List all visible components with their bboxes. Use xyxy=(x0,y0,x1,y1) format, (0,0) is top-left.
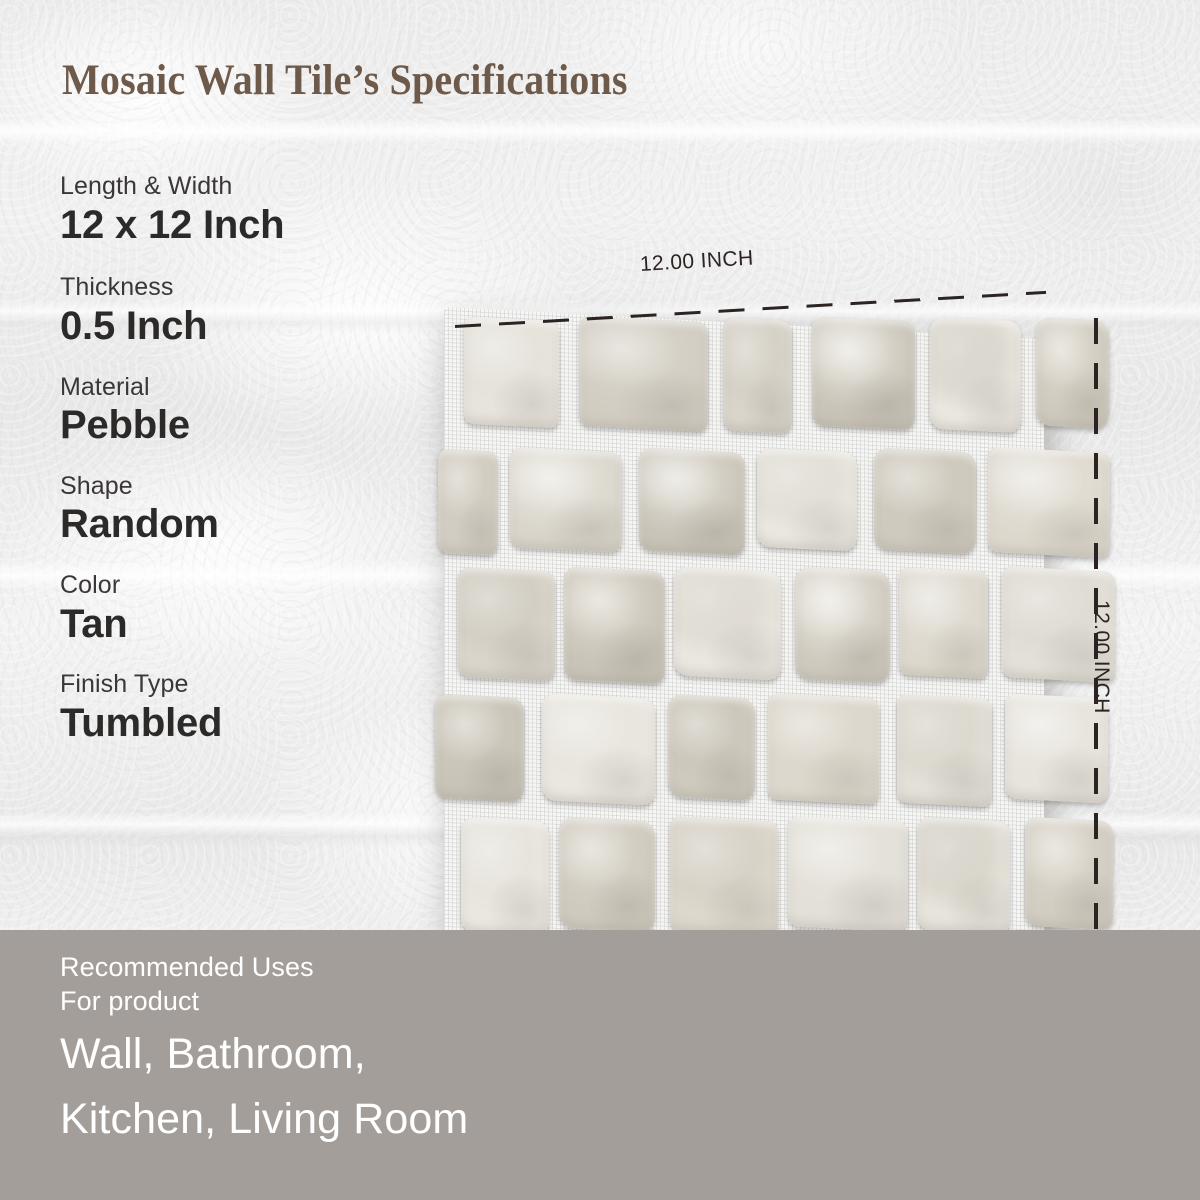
spec-value: Pebble xyxy=(60,403,440,448)
spec-label: Material xyxy=(60,373,440,403)
dimension-label-right: 12.00 INCH xyxy=(1089,600,1113,714)
spec-value: Tan xyxy=(60,602,440,647)
pebble-tile xyxy=(464,317,559,428)
pebble-tile xyxy=(668,694,755,801)
spec-label: Thickness xyxy=(60,273,440,303)
page-title: Mosaic Wall Tile’s Specifications xyxy=(62,56,628,105)
pebble-tile xyxy=(930,317,1021,433)
spec-row-shape: Shape Random xyxy=(60,472,440,547)
pebble-tile xyxy=(768,693,879,804)
pebble-tile xyxy=(639,447,745,555)
specifications-list: Length & Width 12 x 12 Inch Thickness 0.… xyxy=(60,172,440,768)
pebble-tile xyxy=(559,817,655,933)
pebble-tile xyxy=(757,448,857,552)
pebble-tile xyxy=(723,317,792,434)
spec-value: 0.5 Inch xyxy=(60,304,440,349)
pebble-tile xyxy=(542,693,655,805)
pebble-tile xyxy=(899,567,988,679)
pebble-tile xyxy=(461,817,549,936)
recommended-uses-value-line2: Kitchen, Living Room xyxy=(60,1091,760,1148)
pebble-tile xyxy=(988,447,1110,558)
pebble-tile xyxy=(874,448,976,555)
pebble-tile xyxy=(812,317,915,431)
pebble-tile xyxy=(788,816,908,931)
pebble-tile xyxy=(564,567,665,685)
pebble-tile xyxy=(579,316,708,432)
spec-label: Shape xyxy=(60,472,440,502)
spec-label: Color xyxy=(60,571,440,601)
pebble-tile xyxy=(510,447,622,552)
pebble-tile xyxy=(1025,817,1113,931)
recommended-uses-band: Recommended Uses For product Wall, Bathr… xyxy=(0,930,1200,1200)
spec-row-material: Material Pebble xyxy=(60,373,440,448)
pebble-tile xyxy=(438,449,498,556)
spec-value: Tumbled xyxy=(60,701,440,746)
pebble-tile xyxy=(897,694,992,808)
spec-row-color: Color Tan xyxy=(60,571,440,646)
spec-row-thickness: Thickness 0.5 Inch xyxy=(60,273,440,348)
pebble-tile xyxy=(1036,317,1109,429)
spec-value: 12 x 12 Inch xyxy=(60,203,440,248)
pebble-tile xyxy=(918,817,1010,934)
recommended-uses-content: Recommended Uses For product Wall, Bathr… xyxy=(60,950,760,1148)
spec-value: Random xyxy=(60,502,440,547)
recommended-uses-value-line1: Wall, Bathroom, xyxy=(60,1026,760,1083)
pebble-tile xyxy=(458,567,555,681)
product-image xyxy=(432,305,1072,1005)
spec-label: Length & Width xyxy=(60,172,440,202)
spec-row-length-width: Length & Width 12 x 12 Inch xyxy=(60,172,440,247)
recommended-uses-label-line2: For product xyxy=(60,984,760,1018)
infographic-page: Mosaic Wall Tile’s Specifications Length… xyxy=(0,0,1200,1200)
pebble-tile xyxy=(795,567,890,683)
pebble-tile xyxy=(674,566,781,681)
spec-row-finish-type: Finish Type Tumbled xyxy=(60,670,440,745)
recommended-uses-label-line1: Recommended Uses xyxy=(60,950,760,984)
pebble-tile xyxy=(670,816,778,936)
spec-label: Finish Type xyxy=(60,670,440,700)
pebble-mosaic-panel xyxy=(432,305,1072,1005)
pebble-tile xyxy=(435,694,524,802)
